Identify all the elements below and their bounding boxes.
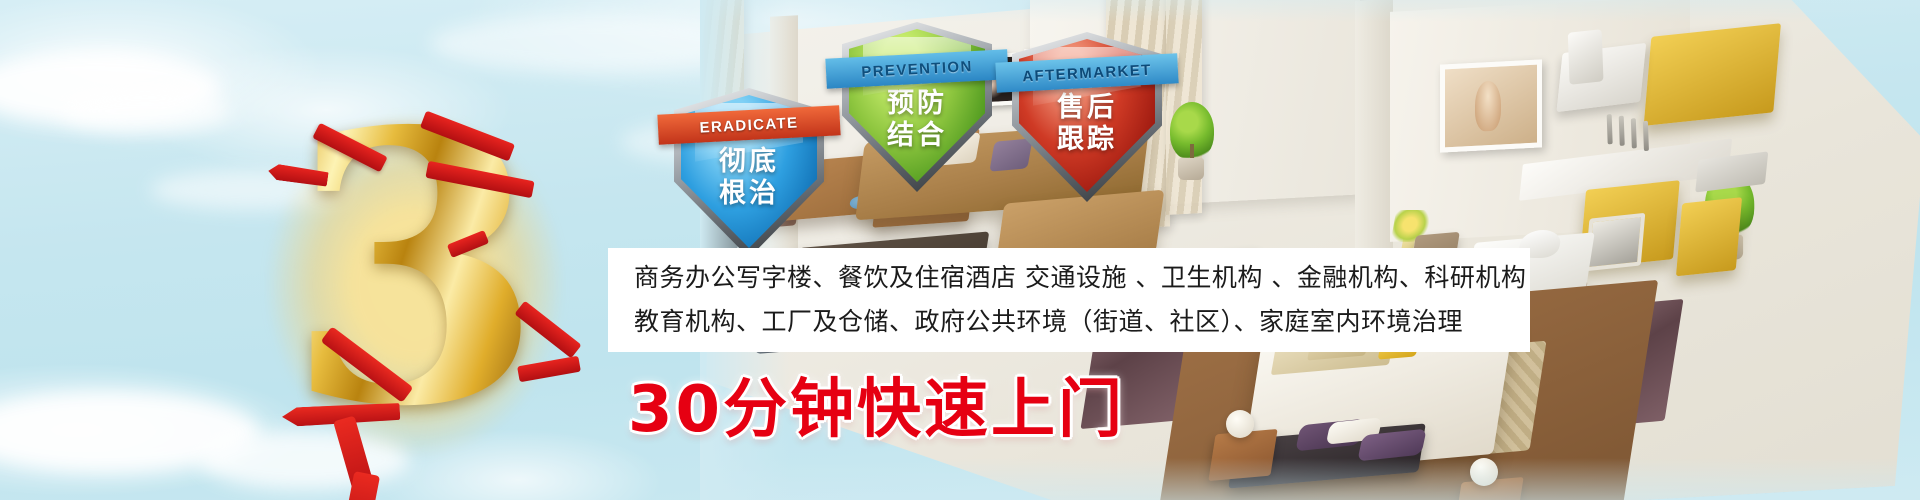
badge-english-label: PREVENTION (861, 58, 973, 81)
badge-chinese-text: 预防 结合 (842, 88, 992, 152)
badge-chinese-line2: 结合 (842, 120, 992, 152)
service-scope-line-2: 教育机构、工厂及仓储、政府公共环境（街道、社区）、家庭室内环境治理 (634, 300, 1504, 344)
badge-chinese-line2: 跟踪 (1012, 124, 1162, 156)
badge-english-label: ERADICATE (699, 114, 799, 136)
kitchen-base-cabinet (1676, 197, 1742, 276)
golden-number-graphic: 3 (250, 105, 580, 475)
hanging-utensil (1607, 114, 1613, 144)
badge-english-label: AFTERMARKET (1022, 61, 1152, 85)
hanging-utensil (1631, 118, 1637, 148)
oven (1585, 213, 1645, 272)
kitchen-area (1544, 0, 1915, 322)
hanging-utensil (1643, 121, 1649, 151)
wall-painting (1440, 59, 1542, 152)
badge-chinese-text: 彻底 根治 (674, 146, 824, 210)
cloud-shape (60, 88, 230, 134)
badge-chinese-line1: 售后 (1012, 92, 1162, 124)
service-scope-panel: 商务办公写字楼、餐饮及住宿酒店 交通设施 、卫生机构 、金融机构、科研机构 教育… (608, 248, 1530, 352)
kitchen-wall-cabinet (1644, 23, 1781, 126)
badge-aftermarket: 售后 跟踪 AFTERMARKET (1012, 32, 1162, 202)
wall-divider (1355, 0, 1393, 281)
badge-prevention: 预防 结合 PREVENTION (842, 22, 992, 192)
range-hood-chimney (1568, 29, 1604, 85)
hanging-utensil (1619, 116, 1625, 146)
badge-eradicate: 彻底 根治 ERADICATE (674, 88, 824, 258)
badge-chinese-line2: 根治 (674, 178, 824, 210)
bedside-lamp (1226, 410, 1254, 438)
bedside-lamp (1470, 458, 1498, 486)
service-scope-line-1: 商务办公写字楼、餐饮及住宿酒店 交通设施 、卫生机构 、金融机构、科研机构 (634, 256, 1504, 300)
ribbon-arrow (286, 353, 436, 483)
promo-banner: 3 彻底 根治 ERADICATE (0, 0, 1920, 500)
badge-chinese-line1: 预防 (842, 88, 992, 120)
badge-chinese-line1: 彻底 (674, 146, 824, 178)
badge-chinese-text: 售后 跟踪 (1012, 92, 1162, 156)
headline-text: 30分钟快速上门 (628, 358, 1125, 450)
